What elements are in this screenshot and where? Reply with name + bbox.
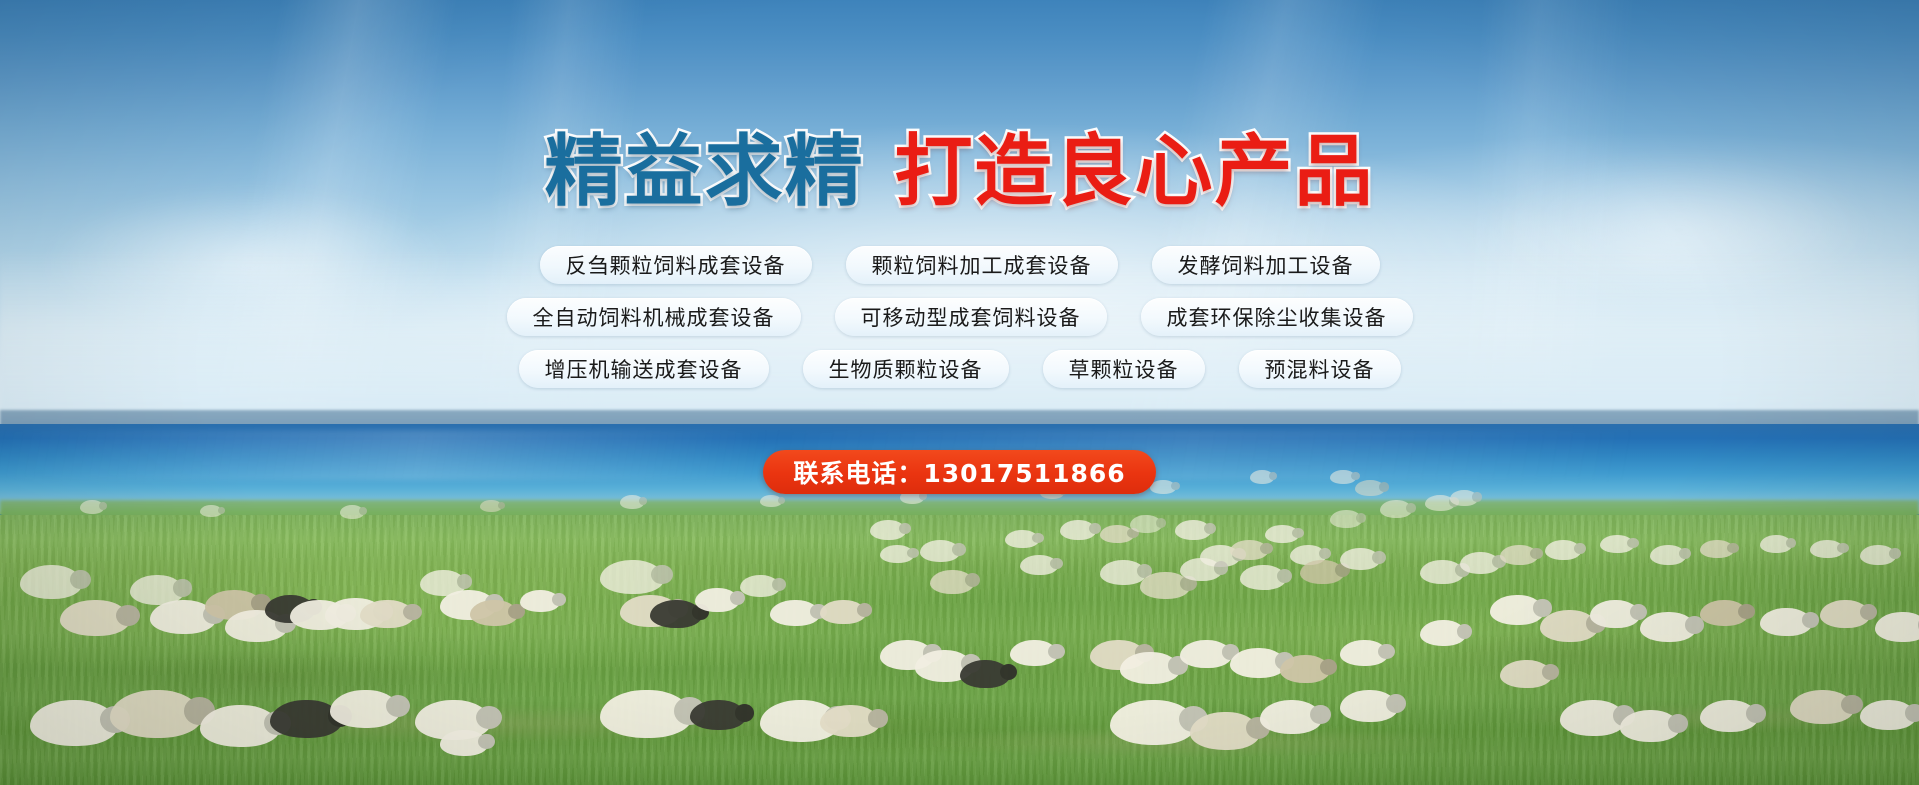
headline: 精益求精打造良心产品: [0, 133, 1919, 211]
pill-row-2: 全自动饲料机械成套设备 可移动型成套饲料设备 成套环保除尘收集设备: [0, 298, 1919, 336]
contact-area: 联系电话：13017511866: [0, 450, 1919, 494]
contact-phone-button[interactable]: 联系电话：13017511866: [763, 450, 1155, 494]
product-category-pills: 反刍颗粒饲料成套设备 颗粒饲料加工成套设备 发酵饲料加工设备 全自动饲料机械成套…: [0, 246, 1919, 402]
pill-ruminant-pellet-feed-complete-equipment[interactable]: 反刍颗粒饲料成套设备: [540, 246, 812, 284]
pill-booster-conveying-complete-equipment[interactable]: 增压机输送成套设备: [519, 350, 769, 388]
banner-content: 精益求精打造良心产品 反刍颗粒饲料成套设备 颗粒饲料加工成套设备 发酵饲料加工设…: [0, 0, 1919, 785]
pill-biomass-pellet-equipment[interactable]: 生物质颗粒设备: [803, 350, 1009, 388]
pill-premix-equipment[interactable]: 预混料设备: [1239, 350, 1401, 388]
pill-fully-automatic-feed-machinery-complete-equipment[interactable]: 全自动饲料机械成套设备: [507, 298, 801, 336]
pill-mobile-complete-feed-equipment[interactable]: 可移动型成套饲料设备: [835, 298, 1107, 336]
pill-fermented-feed-processing-equipment[interactable]: 发酵饲料加工设备: [1152, 246, 1380, 284]
pill-row-1: 反刍颗粒饲料成套设备 颗粒饲料加工成套设备 发酵饲料加工设备: [0, 246, 1919, 284]
pill-pellet-feed-processing-complete-equipment[interactable]: 颗粒饲料加工成套设备: [846, 246, 1118, 284]
headline-red-text: 打造良心产品: [895, 127, 1375, 217]
pill-grass-pellet-equipment[interactable]: 草颗粒设备: [1043, 350, 1205, 388]
promo-banner: 精益求精打造良心产品 反刍颗粒饲料成套设备 颗粒饲料加工成套设备 发酵饲料加工设…: [0, 0, 1919, 785]
pill-complete-environmental-dust-collection-equipment[interactable]: 成套环保除尘收集设备: [1141, 298, 1413, 336]
headline-blue-text: 精益求精: [544, 127, 864, 217]
pill-row-3: 增压机输送成套设备 生物质颗粒设备 草颗粒设备 预混料设备: [0, 350, 1919, 388]
